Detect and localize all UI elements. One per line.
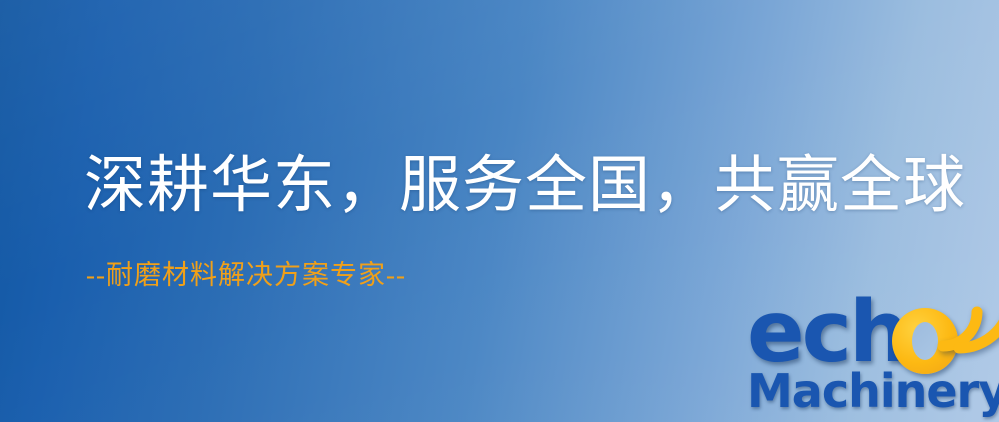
banner-headline: 深耕华东，服务全国，共赢全球 (84, 154, 966, 219)
promo-banner: 深耕华东，服务全国，共赢全球 --耐磨材料解决方案专家-- ech Machin… (0, 0, 999, 422)
banner-subtitle: --耐磨材料解决方案专家-- (86, 261, 406, 291)
signal-arcs-icon (933, 292, 999, 354)
logo-tagline-text: Machinery (747, 364, 999, 418)
logo-echo-text: ech (747, 290, 907, 375)
company-logo[interactable]: ech Machinery® (745, 296, 999, 422)
logo-tagline: Machinery® (747, 368, 999, 414)
